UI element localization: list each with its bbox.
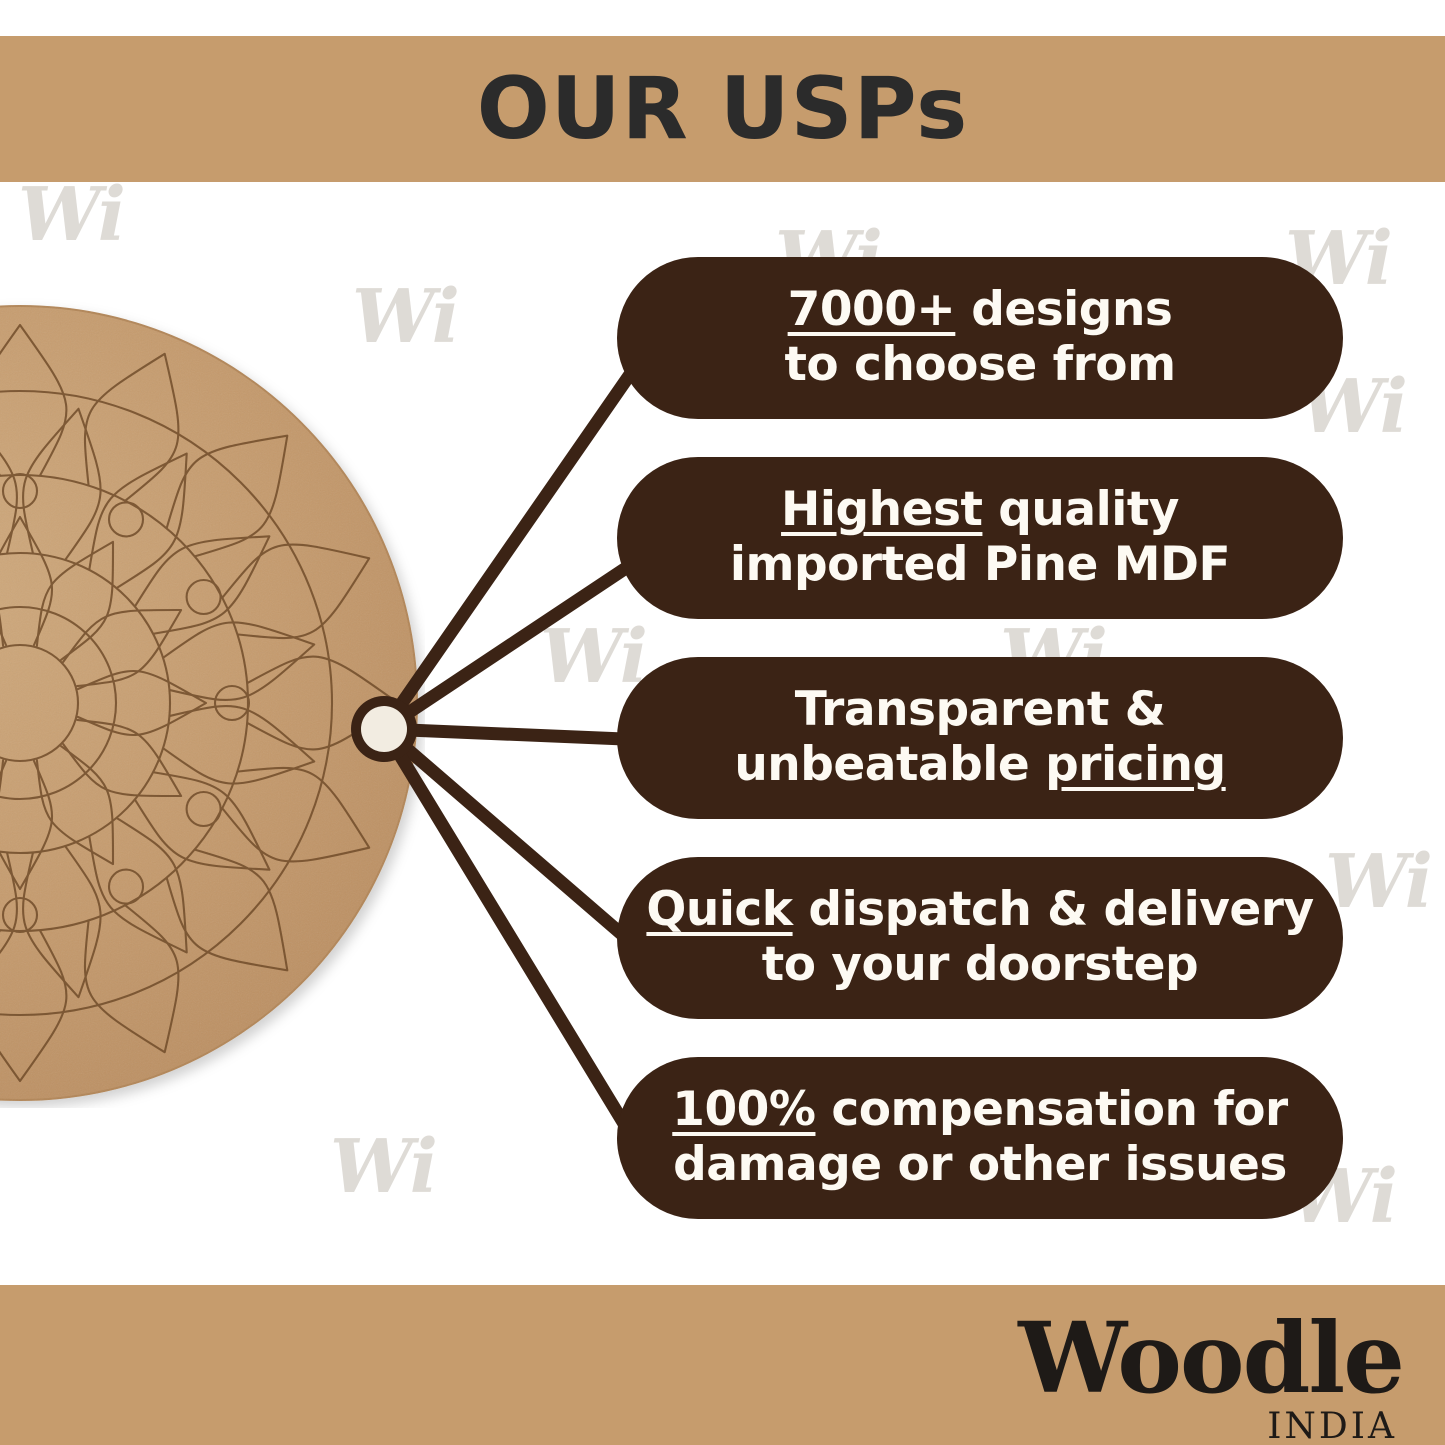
usp-pill-designs[interactable]: 7000+ designsto choose from (617, 257, 1343, 419)
usp-pill-dispatch[interactable]: Quick dispatch & deliveryto your doorste… (617, 857, 1343, 1019)
watermark-wi: Wi (540, 620, 646, 694)
usp-pill-quality[interactable]: Highest qualityimported Pine MDF (617, 457, 1343, 619)
mandala-mdf-disc (0, 298, 425, 1108)
usp-text-quality: Highest qualityimported Pine MDF (730, 483, 1230, 592)
infographic-canvas: WiWiWiWiWiWiWiWiWiWi (0, 0, 1445, 1445)
header-band: OUR USPs (0, 36, 1445, 182)
usp-text-pricing: Transparent &unbeatable pricing (734, 683, 1225, 792)
brand-logo-word: Woodle (1018, 1310, 1403, 1407)
usp-text-dispatch: Quick dispatch & deliveryto your doorste… (646, 883, 1313, 992)
watermark-wi: Wi (18, 178, 124, 252)
watermark-wi: Wi (1325, 845, 1431, 919)
usp-text-designs: 7000+ designsto choose from (784, 283, 1175, 392)
page-title: OUR USPs (0, 36, 1445, 182)
usp-pill-compensation[interactable]: 100% compensation fordamage or other iss… (617, 1057, 1343, 1219)
watermark-wi: Wi (330, 1130, 436, 1204)
usp-pill-pricing[interactable]: Transparent &unbeatable pricing (617, 657, 1343, 819)
brand-logo: Woodle INDIA (1018, 1310, 1403, 1445)
usp-text-compensation: 100% compensation fordamage or other iss… (672, 1083, 1287, 1192)
